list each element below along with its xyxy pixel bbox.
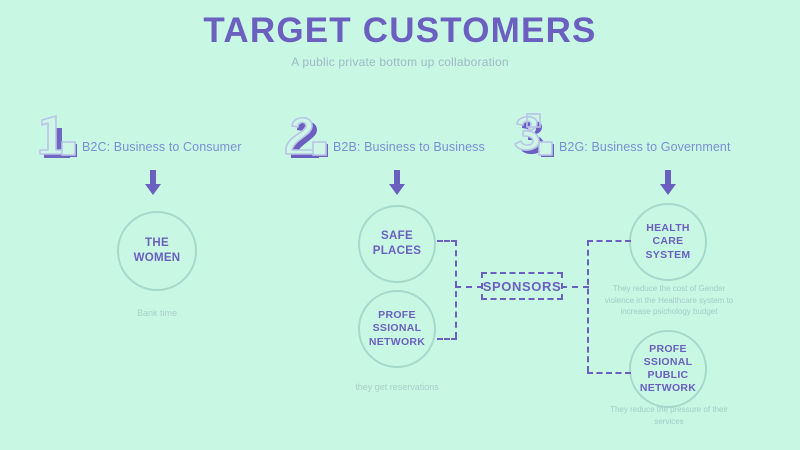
- node-the-women[interactable]: THE WOMEN: [117, 211, 197, 291]
- connector-professional-network-stub: [437, 338, 457, 340]
- node-label: PROFE SSIONAL NETWORK: [369, 309, 425, 348]
- node-label: THE WOMEN: [134, 236, 181, 265]
- node-label: PROFE SSIONAL PUBLIC NETWORK: [640, 343, 696, 396]
- page-title: TARGET CUSTOMERS: [0, 12, 800, 51]
- arrow-down-icon-1: [144, 170, 162, 196]
- caption-health-care: They reduce the cost of Gender violence …: [604, 283, 734, 318]
- page-subtitle: A public private bottom up collaboration: [0, 55, 800, 69]
- node-safe-places[interactable]: SAFE PLACES: [358, 205, 436, 283]
- arrow-down-icon-2: [388, 170, 406, 196]
- connector-left-spine: [455, 240, 457, 338]
- arrow-down-icon-3: [659, 170, 677, 196]
- column-header-1: B2C: Business to Consumer: [32, 104, 242, 160]
- connector-safe-places-stub: [437, 240, 457, 242]
- column-header-label-3: B2G: Business to Government: [559, 140, 731, 160]
- connector-right-spine: [587, 240, 589, 372]
- connector-health-care-stub: [587, 240, 631, 242]
- numeral-3-icon: [509, 110, 559, 160]
- column-header-2: B2B: Business to Business: [283, 104, 485, 160]
- caption-public-network: They reduce the pressure of their servic…: [604, 404, 734, 427]
- slide-canvas: TARGET CUSTOMERS A public private bottom…: [0, 0, 800, 450]
- connector-sponsors-to-right: [561, 286, 589, 288]
- sponsors-label: SPONSORS: [483, 279, 561, 294]
- caption-column-2: they get reservations: [337, 381, 457, 394]
- column-header-label-2: B2B: Business to Business: [333, 140, 485, 160]
- sponsors-box[interactable]: SPONSORS: [481, 272, 563, 300]
- column-header-3: B2G: Business to Government: [509, 104, 731, 160]
- numeral-2-icon: [283, 110, 333, 160]
- node-label: HEALTH CARE SYSTEM: [646, 222, 691, 261]
- numeral-1-icon: [32, 110, 82, 160]
- connector-left-to-sponsors: [455, 286, 483, 288]
- connector-public-network-stub: [587, 372, 631, 374]
- node-professional-network[interactable]: PROFE SSIONAL NETWORK: [358, 290, 436, 368]
- node-health-care-system[interactable]: HEALTH CARE SYSTEM: [629, 203, 707, 281]
- node-professional-public-network[interactable]: PROFE SSIONAL PUBLIC NETWORK: [629, 330, 707, 408]
- caption-column-1: Bank time: [97, 307, 217, 320]
- column-header-label-1: B2C: Business to Consumer: [82, 140, 242, 160]
- node-label: SAFE PLACES: [373, 229, 421, 258]
